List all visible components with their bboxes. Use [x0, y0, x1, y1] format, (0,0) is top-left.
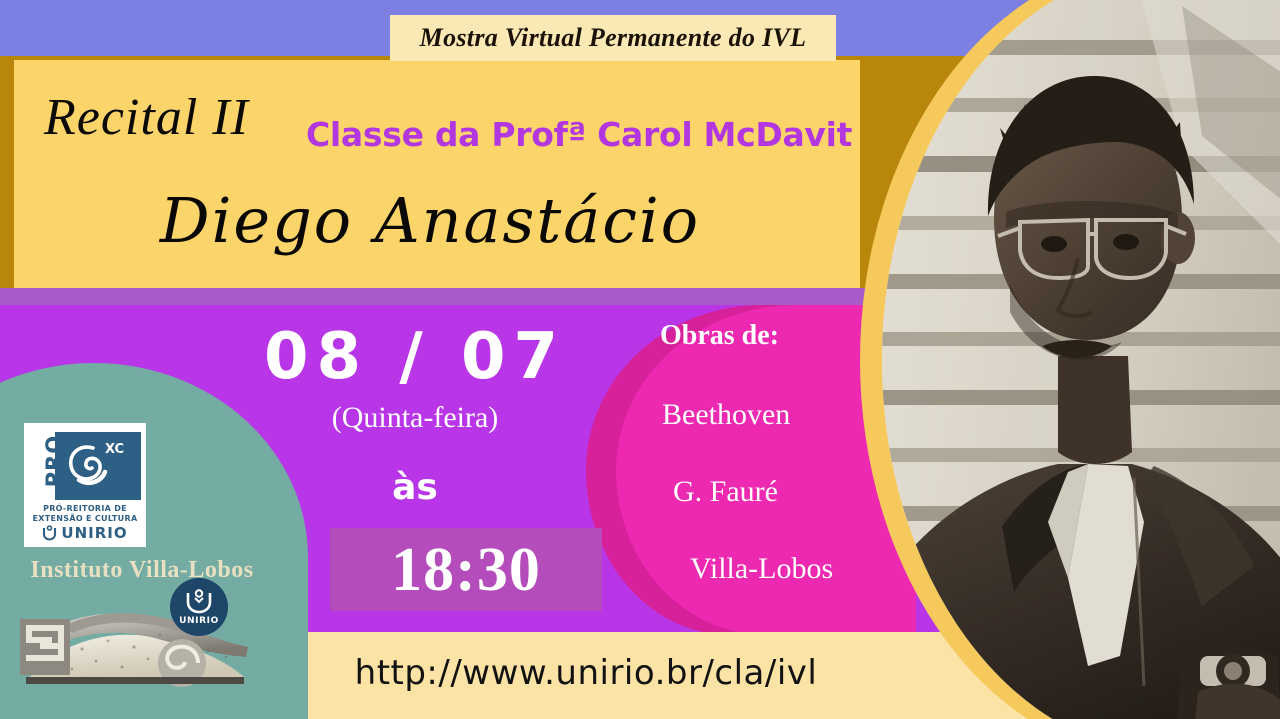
header-banner-text: Mostra Virtual Permanente do IVL — [420, 23, 807, 53]
website-url[interactable]: http://www.unirio.br/cla/ivl — [306, 656, 866, 690]
proexc-caption-line1: PRÓ-REITORIA DE — [29, 504, 141, 514]
proexc-pro-text: PRO — [42, 429, 64, 493]
event-date: 08 / 07 — [230, 325, 600, 389]
proexc-unirio-text: UNIRIO — [61, 524, 127, 542]
unirio-mark-icon — [42, 525, 57, 541]
proexc-caption-line2: EXTENSÃO E CULTURA — [29, 514, 141, 524]
event-time: 18:30 — [391, 539, 541, 601]
unirio-badge-text: UNIRIO — [179, 616, 219, 626]
photo-clip — [882, 0, 1280, 719]
composer-item: G. Fauré — [673, 477, 778, 507]
ivl-title: Instituto Villa-Lobos — [8, 558, 276, 582]
header-banner: Mostra Virtual Permanente do IVL — [390, 15, 836, 61]
composer-item: Beethoven — [662, 400, 790, 430]
performer-photo — [860, 0, 1280, 719]
series-title: Recital II — [44, 92, 249, 144]
event-time-box: 18:30 — [330, 528, 602, 611]
villa-lobos-sculpture-icon — [12, 585, 272, 695]
proexc-xc-text: XC — [105, 442, 124, 457]
event-poster: Mostra Virtual Permanente do IVL Recital… — [0, 0, 1280, 719]
at-label: às — [230, 470, 600, 506]
proexc-unirio-lockup: UNIRIO — [29, 524, 141, 542]
unirio-mark-icon — [184, 589, 214, 615]
event-weekday: (Quinta-feira) — [230, 403, 600, 433]
class-line: Classe da Profª Carol McDavit — [306, 118, 852, 151]
spiral-icon — [63, 438, 109, 490]
proexc-logo: PRO XC PRÓ-REITORIA DE EXTENSÃO E CULTUR… — [24, 423, 146, 547]
composer-item: Villa-Lobos — [690, 554, 833, 584]
unirio-badge: UNIRIO — [170, 578, 228, 636]
program-heading: Obras de: — [660, 322, 779, 350]
performer-name: Diego Anastácio — [0, 190, 860, 252]
photo-illustration — [882, 0, 1280, 719]
proexc-caption: PRÓ-REITORIA DE EXTENSÃO E CULTURA — [29, 504, 141, 524]
